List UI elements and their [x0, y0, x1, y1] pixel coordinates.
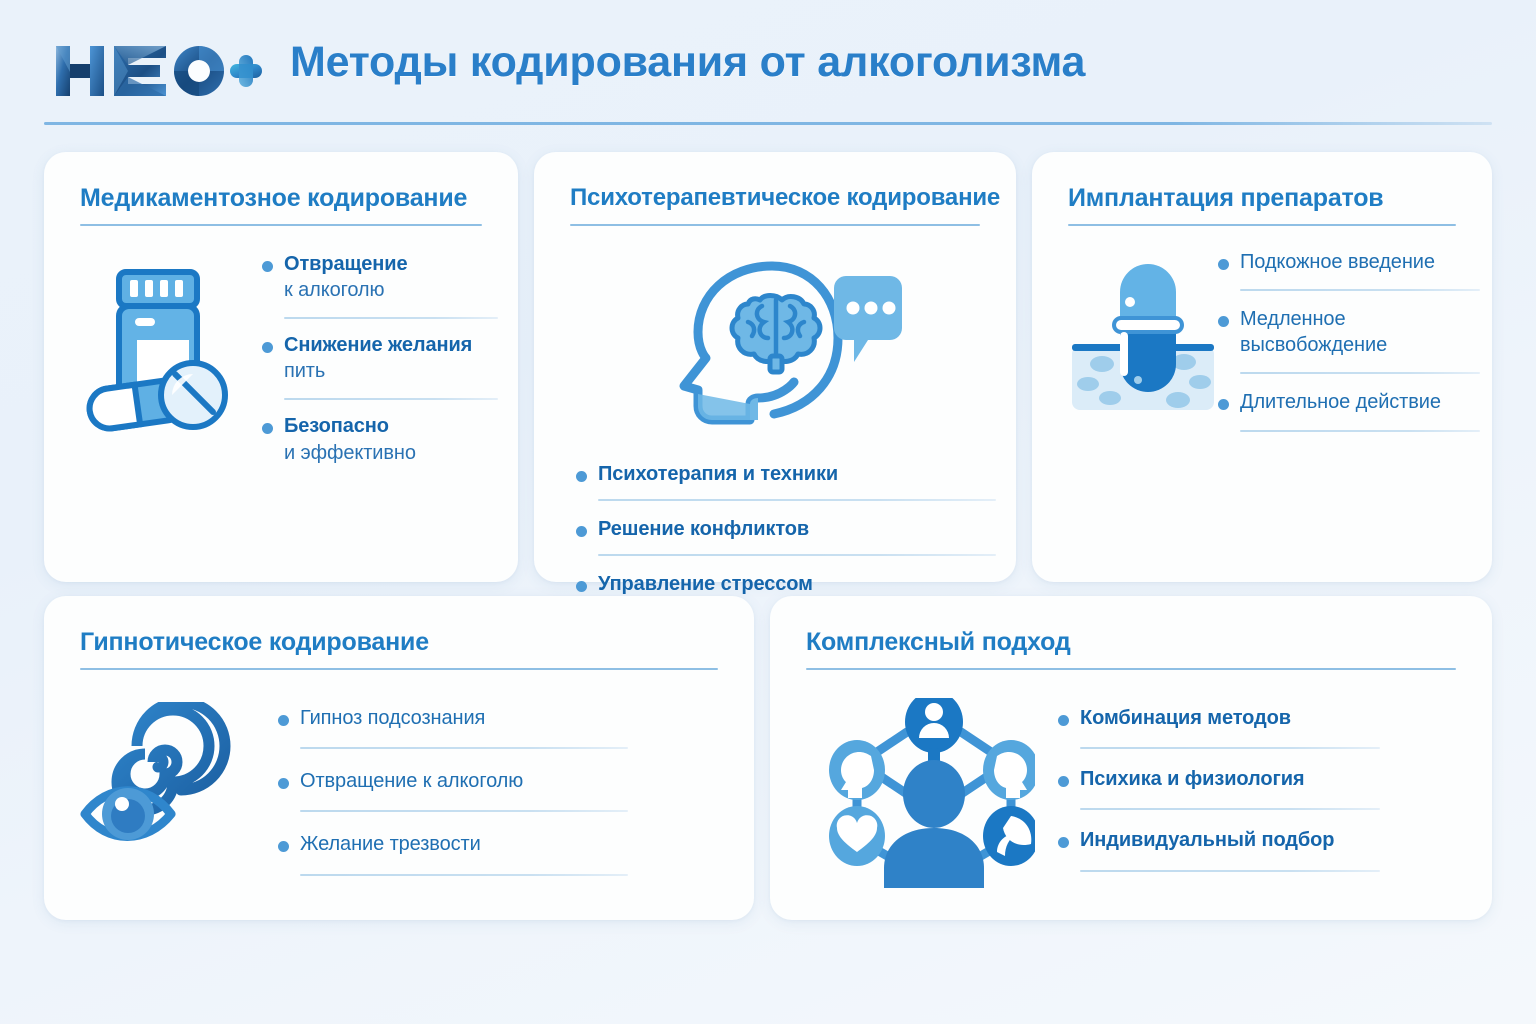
list-item-line1: Снижение желания — [284, 333, 498, 358]
bullet-dot-icon — [278, 841, 289, 852]
neo-plus-logo — [54, 40, 262, 102]
list-item[interactable]: Длительное действие — [1218, 390, 1480, 423]
list-separator — [1080, 747, 1380, 749]
network-people-icon-svg — [815, 698, 1035, 888]
bullet-dot-icon — [576, 471, 587, 482]
card-title: Имплантация препаратов — [1068, 184, 1383, 213]
bullet-dot-icon — [262, 261, 273, 272]
benefit-list: Гипноз подсознания Отвращение к алкоголю… — [278, 706, 628, 896]
list-item[interactable]: Психика и физиология — [1058, 767, 1380, 800]
card-body: Гипноз подсознания Отвращение к алкоголю… — [44, 688, 754, 908]
list-separator — [1080, 870, 1380, 872]
list-separator — [1240, 289, 1480, 291]
neo-plus-logo-icon — [54, 40, 262, 102]
hypnosis-eye-spiral-icon-svg — [77, 702, 257, 862]
card-title-divider — [806, 668, 1456, 670]
list-item[interactable]: Решение конфликтов — [576, 517, 996, 546]
list-item-line1: Управление стрессом — [598, 572, 996, 597]
list-separator — [1240, 372, 1480, 374]
head-brain-speech-icon — [644, 254, 914, 434]
bullet-dot-icon — [1058, 776, 1069, 787]
card-comprehensive-approach[interactable]: Комплексный подход — [770, 596, 1492, 920]
list-item[interactable]: Безопасно и эффективно — [262, 414, 498, 473]
bullet-dot-icon — [262, 342, 273, 353]
card-title-divider — [80, 668, 718, 670]
benefit-list: Комбинация методов Психика и физиология … — [1058, 706, 1380, 890]
card-medication-coding[interactable]: Медикаментозное кодирование — [44, 152, 518, 582]
list-item-line2: высвобождение — [1240, 332, 1480, 358]
list-item-line1: Комбинация методов — [1080, 706, 1380, 731]
benefit-list: Отвращение к алкоголю Снижение желания п… — [262, 252, 498, 474]
card-body: Отвращение к алкоголю Снижение желания п… — [44, 244, 518, 570]
benefit-list: Психотерапия и техники Решение конфликто… — [576, 462, 996, 602]
cards-row-top: Медикаментозное кодирование — [44, 152, 1492, 582]
list-item-line1: Отвращение — [284, 252, 498, 277]
list-item-line1: Индивидуальный подбор — [1080, 828, 1380, 853]
pill-bottle-icon-svg — [71, 262, 246, 437]
bullet-dot-icon — [576, 526, 587, 537]
card-title: Медикаментозное кодирование — [80, 184, 467, 213]
bullet-dot-icon — [262, 423, 273, 434]
network-people-icon — [810, 698, 1040, 888]
list-separator — [1240, 430, 1480, 432]
card-drug-implantation[interactable]: Имплантация препаратов — [1032, 152, 1492, 582]
list-item-line2: к алкоголю — [284, 277, 498, 303]
list-item-line1: Психотерапия и техники — [598, 462, 996, 487]
list-item-line1: Медленное — [1240, 307, 1480, 332]
list-separator — [300, 874, 628, 876]
list-separator — [284, 317, 498, 319]
bullet-dot-icon — [278, 778, 289, 789]
list-item[interactable]: Психотерапия и техники — [576, 462, 996, 491]
list-item[interactable]: Комбинация методов — [1058, 706, 1380, 739]
list-separator — [1080, 808, 1380, 810]
list-item-line1: Решение конфликтов — [598, 517, 996, 542]
bullet-dot-icon — [1218, 316, 1229, 327]
card-body: Комбинация методов Психика и физиология … — [770, 688, 1492, 908]
list-item-line2: пить — [284, 358, 498, 384]
card-title-divider — [570, 224, 980, 226]
list-item-line2: и эффективно — [284, 440, 498, 466]
card-title-divider — [80, 224, 482, 226]
bullet-dot-icon — [576, 581, 587, 592]
pill-bottle-icon — [68, 262, 248, 442]
bullet-dot-icon — [278, 715, 289, 726]
card-hypnotic-coding[interactable]: Гипнотическое кодирование — [44, 596, 754, 920]
head-brain-speech-icon-svg — [654, 254, 904, 429]
infographic-page: Методы кодирования от алкоголизма Медика… — [0, 0, 1536, 1024]
list-item-line1: Отвращение к алкоголю — [300, 769, 628, 794]
list-separator — [300, 747, 628, 749]
list-item-line1: Психика и физиология — [1080, 767, 1380, 792]
list-separator — [284, 398, 498, 400]
list-item[interactable]: Снижение желания пить — [262, 333, 498, 392]
list-item[interactable]: Желание трезвости — [278, 832, 628, 865]
card-title: Гипнотическое кодирование — [80, 628, 429, 657]
list-item-line1: Желание трезвости — [300, 832, 628, 857]
list-item[interactable]: Отвращение к алкоголю — [278, 769, 628, 802]
list-item-line1: Гипноз подсознания — [300, 706, 628, 731]
list-item-line1: Безопасно — [284, 414, 498, 439]
list-item-line1: Длительное действие — [1240, 390, 1480, 415]
card-title-divider — [1068, 224, 1456, 226]
list-separator — [300, 810, 628, 812]
header-divider — [44, 122, 1492, 125]
hypnosis-eye-spiral-icon — [72, 702, 262, 872]
list-separator — [598, 499, 996, 501]
cards-row-bottom: Гипнотическое кодирование — [44, 596, 1492, 920]
page-header: Методы кодирования от алкоголизма — [44, 34, 1492, 130]
list-item[interactable]: Отвращение к алкоголю — [262, 252, 498, 311]
list-item[interactable]: Гипноз подсознания — [278, 706, 628, 739]
bullet-dot-icon — [1218, 399, 1229, 410]
list-separator — [598, 554, 996, 556]
implant-capsule-icon — [1054, 258, 1232, 438]
card-psychotherapeutic-coding[interactable]: Психотерапевтическое кодирование — [534, 152, 1016, 582]
benefit-list: Подкожное введение Медленное высвобожден… — [1218, 250, 1480, 448]
bullet-dot-icon — [1058, 837, 1069, 848]
page-title: Методы кодирования от алкоголизма — [290, 38, 1085, 87]
bullet-dot-icon — [1218, 259, 1229, 270]
list-item-line1: Подкожное введение — [1240, 250, 1480, 275]
list-item[interactable]: Медленное высвобождение — [1218, 307, 1480, 366]
bullet-dot-icon — [1058, 715, 1069, 726]
implant-capsule-icon-svg — [1058, 258, 1228, 428]
card-title: Психотерапевтическое кодирование — [570, 184, 1000, 212]
list-item[interactable]: Подкожное введение — [1218, 250, 1480, 283]
card-body: Подкожное введение Медленное высвобожден… — [1032, 244, 1492, 570]
card-title: Комплексный подход — [806, 628, 1071, 657]
card-body: Психотерапия и техники Решение конфликто… — [534, 244, 1016, 570]
list-item[interactable]: Индивидуальный подбор — [1058, 828, 1380, 861]
